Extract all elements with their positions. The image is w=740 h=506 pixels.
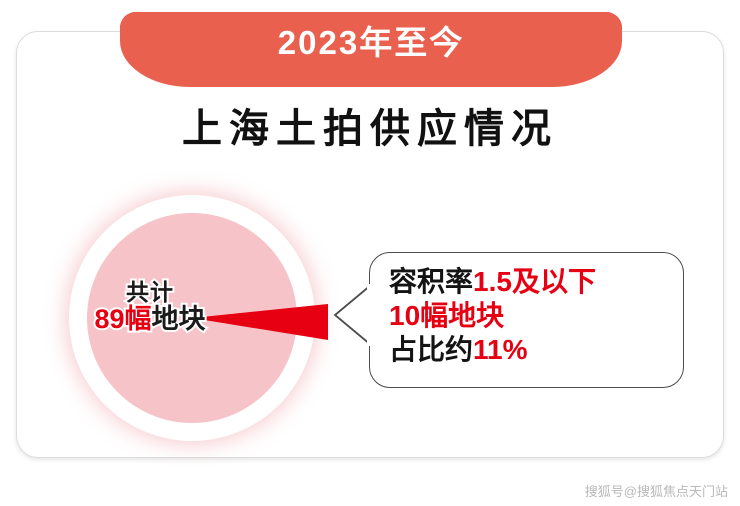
callout-bubble: 容积率1.5及以下 10幅地块 占比约11% [369,252,684,388]
callout-line-3-label: 占比约 [389,334,473,365]
callout-line-2: 10幅地块 [389,299,669,333]
callout-line-1-label: 容积率 [389,266,473,297]
pie-caption: 共计 89幅地块 [60,280,240,334]
infographic-canvas: 2023年至今 上海土拍供应情况 共计 89幅地块 容积率1.5及以下 [0,0,740,506]
pie-caption-top: 共计 [60,280,240,305]
callout-text: 容积率1.5及以下 10幅地块 占比约11% [389,265,669,367]
pie-total-number: 89幅 [94,304,151,334]
callout-line-1: 容积率1.5及以下 [389,265,669,299]
pie-total-suffix: 地块 [152,304,206,334]
callout-line-3: 占比约11% [389,333,669,367]
callout-line-2-value: 10幅地块 [389,300,504,331]
page-title: 上海土拍供应情况 [0,96,740,154]
pie-caption-bottom: 89幅地块 [60,305,240,334]
ribbon-label: 2023年至今 [120,12,622,74]
callout-line-3-value: 11% [473,334,528,365]
callout-pointer [333,284,373,346]
pie-chart: 共计 89幅地块 [62,188,334,448]
watermark: 搜狐号@搜狐焦点天门站 [585,481,728,500]
callout-line-1-value: 1.5及以下 [473,266,596,297]
header-ribbon: 2023年至今 [120,0,622,90]
